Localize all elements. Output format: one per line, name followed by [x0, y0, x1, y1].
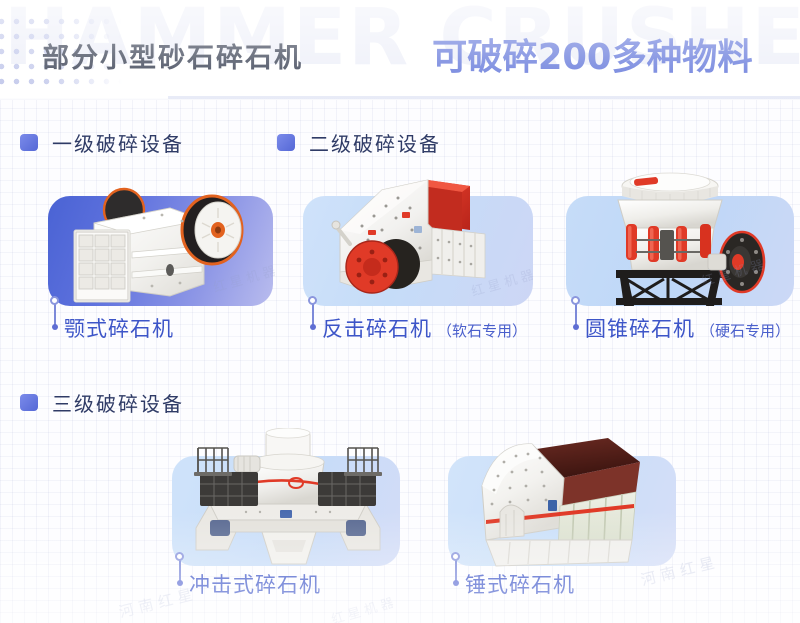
vsi-sand-maker-illustration	[176, 428, 398, 568]
label-pin-marker	[50, 296, 60, 330]
section-label: 三级破碎设备	[52, 388, 184, 417]
product-name: 锤式碎石机	[465, 569, 575, 599]
product-showcase-page: HAMMER CRUSHER 部分小型砂石碎石机 可破碎200多种物料 一级破碎…	[0, 0, 800, 623]
product-label-impact-crusher: 反击碎石机 （软石专用）	[322, 313, 527, 343]
square-bullet-icon	[20, 134, 38, 151]
product-name: 反击碎石机	[322, 313, 432, 343]
section-header-stage-2: 二级破碎设备	[277, 128, 441, 157]
square-bullet-icon	[277, 134, 295, 151]
product-label-jaw-crusher: 颚式碎石机	[64, 313, 179, 343]
cone-crusher-illustration	[572, 166, 792, 308]
label-pin-marker	[308, 296, 318, 330]
label-pin-marker	[571, 296, 581, 330]
brand-watermark: 河南红星	[117, 583, 200, 623]
header-divider	[0, 98, 800, 100]
square-bullet-icon	[20, 394, 38, 411]
product-label-hammer-crusher: 锤式碎石机	[465, 569, 580, 599]
product-label-vsi-sand-maker: 冲击式碎石机	[189, 569, 326, 599]
page-header: HAMMER CRUSHER 部分小型砂石碎石机 可破碎200多种物料	[0, 0, 800, 100]
product-qualifier: （硬石专用）	[700, 320, 790, 341]
brand-watermark: 红星机器	[329, 591, 400, 623]
product-qualifier: （软石专用）	[437, 320, 527, 341]
product-name: 颚式碎石机	[64, 313, 174, 343]
label-pin-marker	[175, 552, 185, 586]
label-pin-marker	[451, 552, 461, 586]
product-label-cone-crusher: 圆锥碎石机 （硬石专用）	[585, 313, 790, 343]
hammer-crusher-illustration	[452, 428, 674, 568]
product-name: 圆锥碎石机	[585, 313, 695, 343]
section-label: 一级破碎设备	[52, 128, 184, 157]
section-label: 二级破碎设备	[309, 128, 441, 157]
section-header-stage-1: 一级破碎设备	[20, 128, 184, 157]
product-name: 冲击式碎石机	[189, 569, 321, 599]
section-header-stage-3: 三级破碎设备	[20, 388, 184, 417]
page-title: 部分小型砂石碎石机	[42, 36, 303, 75]
header-slogan: 可破碎200多种物料	[432, 28, 753, 80]
